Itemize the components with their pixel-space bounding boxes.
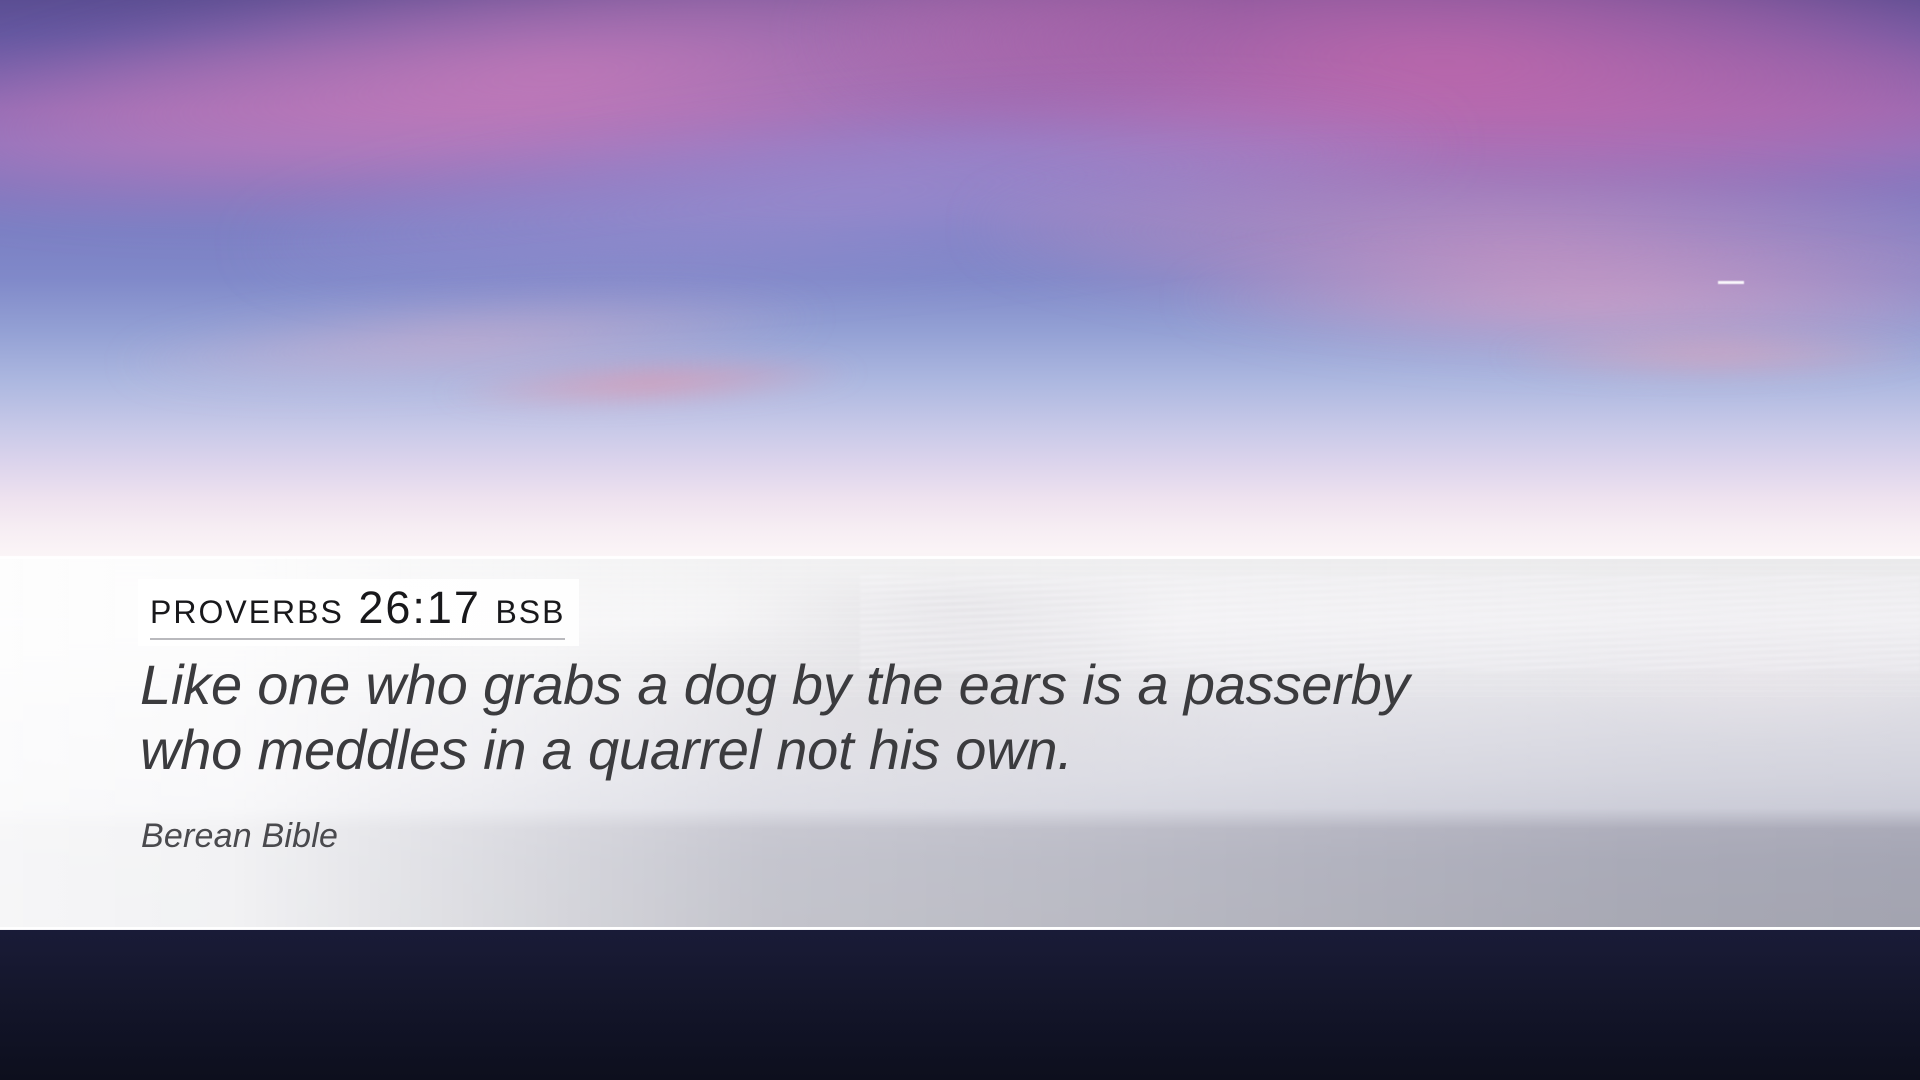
verse-quote-line-1: Like one who grabs a dog by the ears is … (140, 653, 1780, 718)
cloud-streak-7 (439, 349, 861, 417)
verse-content: Proverbs 26:17 BSB Like one who grabs a … (0, 557, 1920, 929)
distant-contrail (1718, 281, 1744, 284)
cloud-streak-3 (246, 68, 1455, 322)
verse-attribution: Berean Bible (141, 817, 338, 856)
verse-quote-line-2: who meddles in a quarrel not his own. (140, 718, 1780, 783)
cloud-streak-8 (1500, 330, 1920, 380)
cloud-streak-5 (1179, 243, 1920, 367)
cloud-streak-6 (118, 276, 822, 405)
verse-wallpaper-scene: Proverbs 26:17 BSB Like one who grabs a … (0, 0, 1920, 1080)
verse-reference: Proverbs 26:17 BSB (150, 583, 565, 640)
cloud-streak-1 (0, 0, 1238, 260)
verse-reference-highlight: Proverbs 26:17 BSB (138, 579, 579, 646)
verse-quote: Like one who grabs a dog by the ears is … (140, 653, 1780, 783)
cloud-streak-4 (978, 151, 1920, 339)
sky-background (0, 0, 1920, 580)
cloud-streak-2 (814, 0, 1920, 228)
